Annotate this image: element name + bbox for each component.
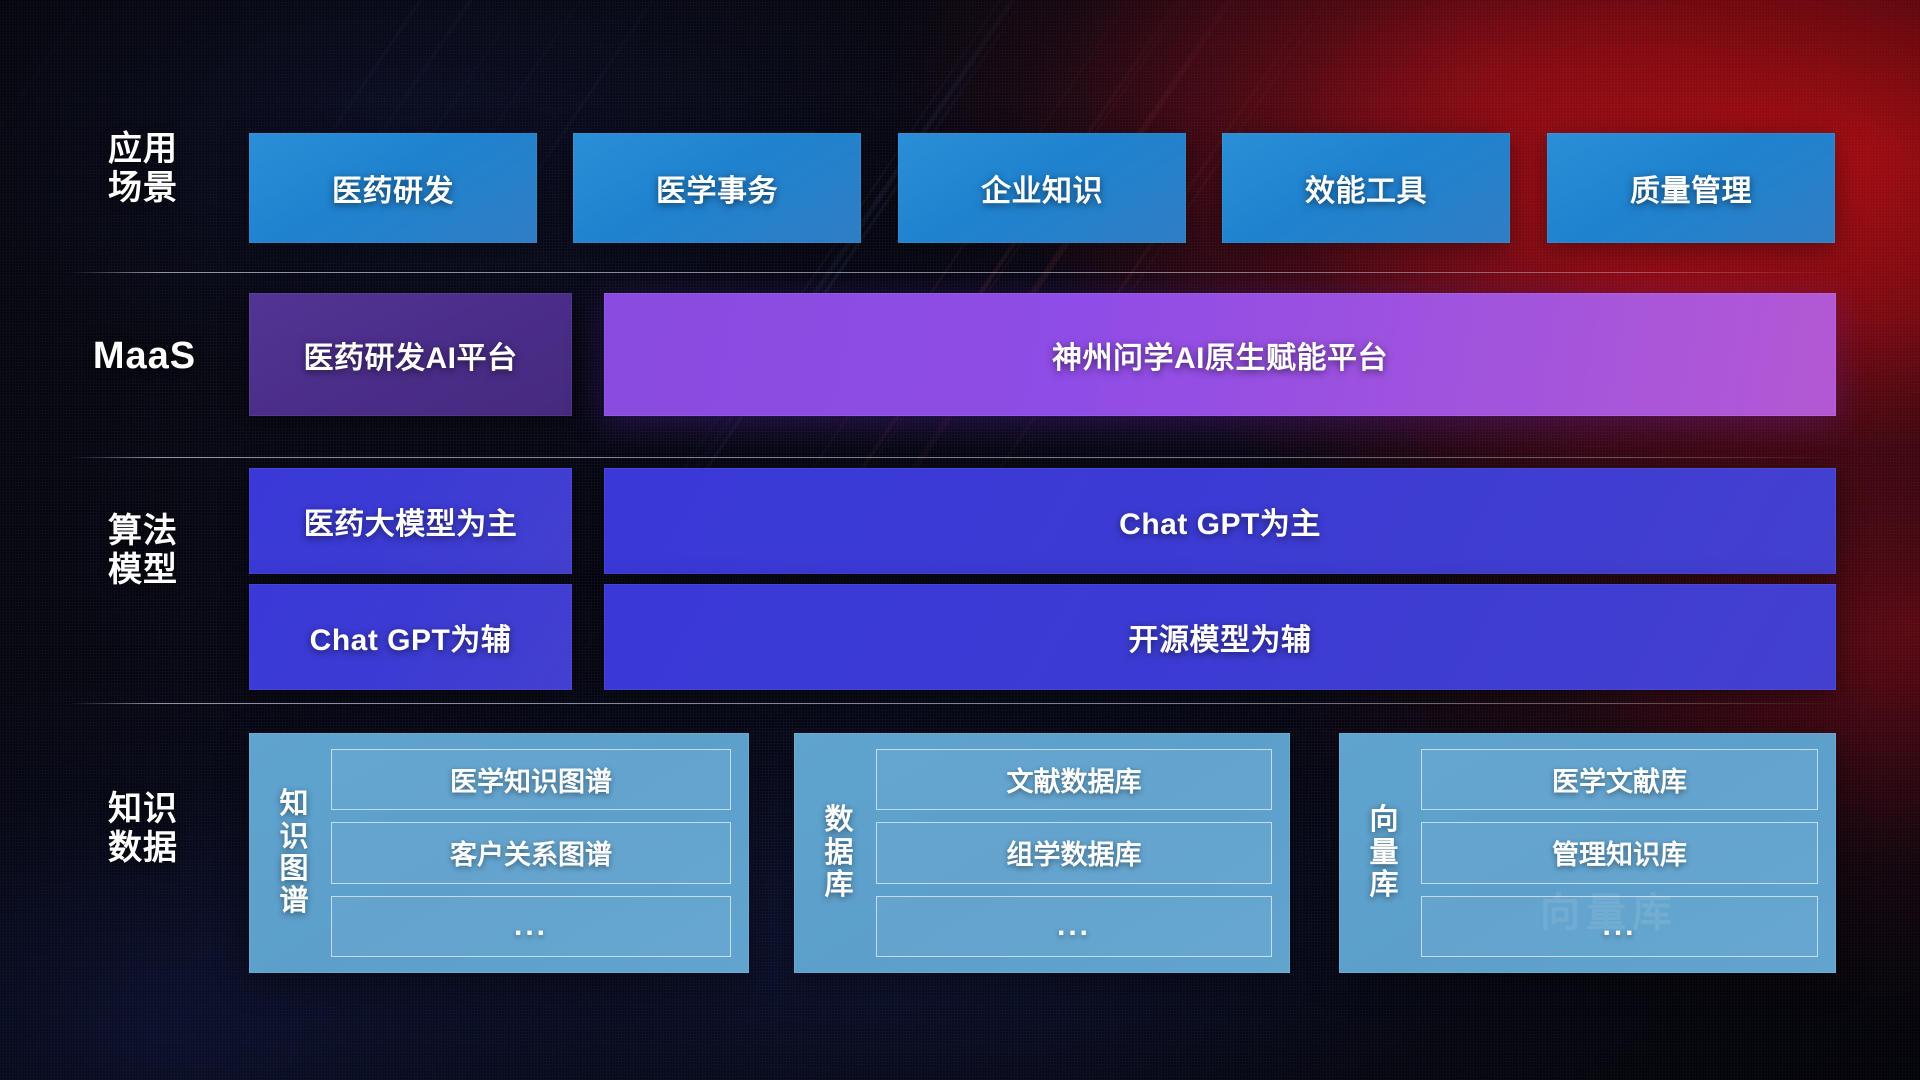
knowledge-group-database[interactable]: 数据库 文献数据库 组学数据库 ... — [794, 733, 1290, 973]
knowledge-item[interactable]: 医学文献库 — [1421, 749, 1818, 810]
app-box-medical-affairs[interactable]: 医学事务 — [573, 133, 861, 243]
maas-box-drug-rd-ai-platform[interactable]: 医药研发AI平台 — [249, 293, 572, 416]
knowledge-group-vector-store[interactable]: 向量库 医学文献库 管理知识库 ... — [1339, 733, 1836, 973]
divider-after-application-row — [70, 272, 1840, 273]
app-box-drug-rd[interactable]: 医药研发 — [249, 133, 537, 243]
knowledge-item[interactable]: 管理知识库 — [1421, 822, 1818, 883]
knowledge-item-more[interactable]: ... — [331, 896, 731, 957]
maas-box-shenzhou-wenxue-platform[interactable]: 神州问学AI原生赋能平台 — [604, 293, 1836, 416]
knowledge-item[interactable]: 文献数据库 — [876, 749, 1272, 810]
row-label-knowledge-data: 知识 数据 — [78, 790, 208, 868]
knowledge-group-title-knowledge-graph: 知识图谱 — [259, 749, 331, 957]
divider-after-algorithm-row — [70, 703, 1840, 704]
knowledge-items-knowledge-graph: 医学知识图谱 客户关系图谱 ... — [331, 749, 731, 957]
divider-after-maas-row — [70, 457, 1840, 458]
knowledge-item-more[interactable]: ... — [1421, 896, 1818, 957]
row-label-application-scenario: 应用 场景 — [78, 130, 208, 208]
app-box-efficiency-tools[interactable]: 效能工具 — [1222, 133, 1510, 243]
algo-box-drug-large-model-primary[interactable]: 医药大模型为主 — [249, 468, 572, 574]
algo-box-chatgpt-primary[interactable]: Chat GPT为主 — [604, 468, 1836, 574]
knowledge-group-title-database: 数据库 — [804, 749, 876, 957]
row-label-maas: MaaS — [62, 335, 227, 378]
knowledge-item-more[interactable]: ... — [876, 896, 1272, 957]
app-box-enterprise-knowledge[interactable]: 企业知识 — [898, 133, 1186, 243]
row-label-algorithm-model: 算法 模型 — [78, 512, 208, 590]
architecture-diagram: 应用 场景 医药研发 医学事务 企业知识 效能工具 质量管理 MaaS 医药研发… — [0, 0, 1920, 1080]
algo-box-open-source-secondary[interactable]: 开源模型为辅 — [604, 584, 1836, 690]
knowledge-item[interactable]: 客户关系图谱 — [331, 822, 731, 883]
app-box-quality-management[interactable]: 质量管理 — [1547, 133, 1835, 243]
knowledge-items-vector-store: 医学文献库 管理知识库 ... — [1421, 749, 1818, 957]
knowledge-items-database: 文献数据库 组学数据库 ... — [876, 749, 1272, 957]
knowledge-item[interactable]: 医学知识图谱 — [331, 749, 731, 810]
algo-box-chatgpt-secondary[interactable]: Chat GPT为辅 — [249, 584, 572, 690]
knowledge-group-knowledge-graph[interactable]: 知识图谱 医学知识图谱 客户关系图谱 ... — [249, 733, 749, 973]
knowledge-item[interactable]: 组学数据库 — [876, 822, 1272, 883]
knowledge-group-title-vector-store: 向量库 — [1349, 749, 1421, 957]
